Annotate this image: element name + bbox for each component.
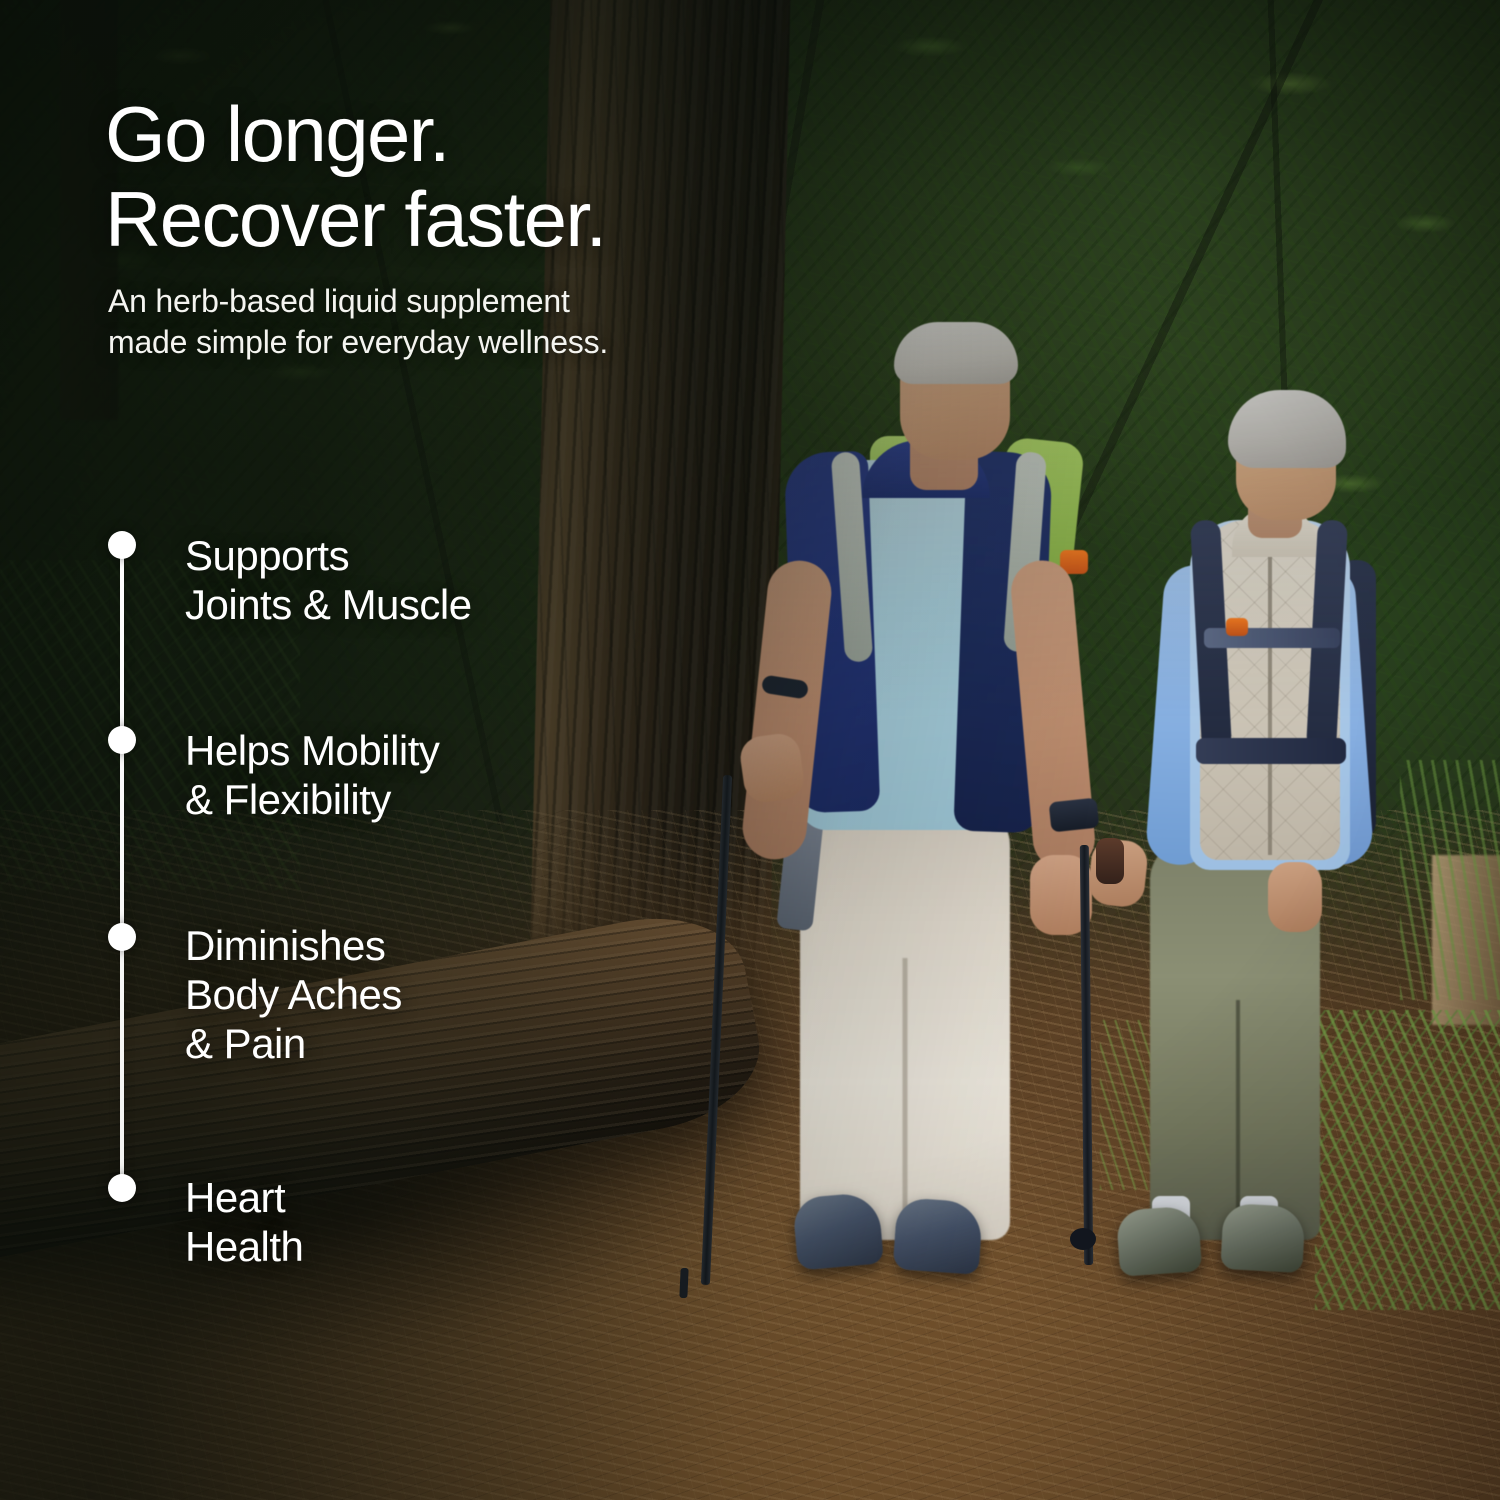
benefit-dot-icon [108,923,136,951]
benefit-item-label: Supports Joints & Muscle [185,531,472,629]
benefit-item-label: Diminishes Body Aches & Pain [185,921,402,1068]
benefit-dot-icon [108,531,136,559]
ad-copy: Go longer. Recover faster. An herb-based… [0,0,1500,1500]
ad-banner: Go longer. Recover faster. An herb-based… [0,0,1500,1500]
benefit-item-label: Helps Mobility & Flexibility [185,726,439,824]
benefit-dot-icon [108,1174,136,1202]
benefits-timeline-line [120,545,124,1189]
headline: Go longer. Recover faster. [105,92,606,262]
subheadline: An herb-based liquid supplement made sim… [108,281,608,363]
benefit-item-label: Heart Health [185,1173,303,1271]
benefit-dot-icon [108,726,136,754]
